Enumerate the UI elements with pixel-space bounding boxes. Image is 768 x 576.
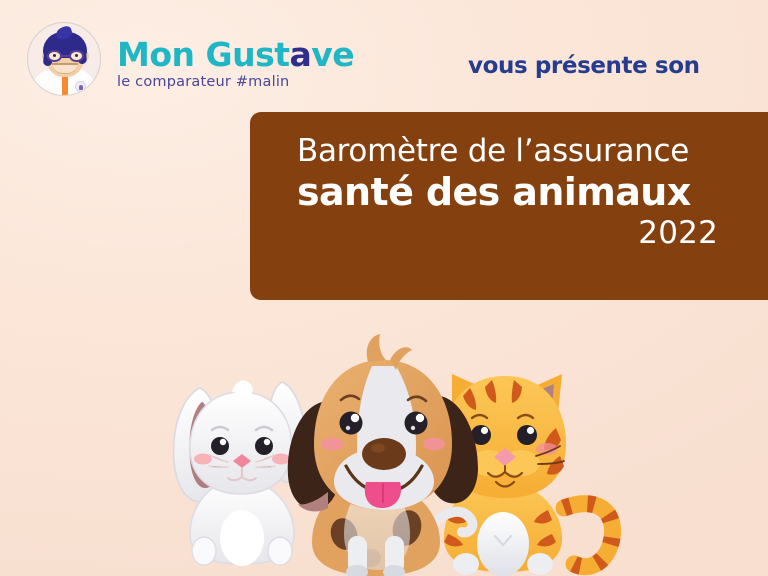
rabbit-figure	[155, 380, 306, 566]
brand-tagline: le comparateur #malin	[117, 74, 367, 90]
cat-paw-left	[453, 553, 479, 575]
three-pets-illustration	[0, 296, 768, 576]
cat-eye-right	[517, 425, 537, 445]
dog-eye-left	[340, 412, 363, 435]
avatar-glasses-bridge	[62, 55, 70, 57]
rabbit-eye-right	[255, 437, 273, 455]
rabbit-belly	[220, 510, 264, 566]
brand-name: Mon Gustave	[117, 38, 367, 71]
avatar-eye-right	[75, 54, 78, 57]
dog-tuft-left	[367, 334, 386, 362]
cat-paw-right	[527, 553, 553, 575]
dog-cheek-right	[423, 438, 445, 451]
avatar-glasses-icon	[46, 50, 86, 62]
avatar-eye-left	[53, 54, 56, 57]
dog-nose	[362, 438, 406, 470]
brand-name-accent: a	[290, 35, 312, 74]
title-line-2: santé des animaux	[297, 169, 718, 217]
title-line-1: Baromètre de l’assurance	[297, 134, 718, 169]
rabbit-eye-left	[211, 437, 229, 455]
brand-name-part1: Mon Gust	[117, 35, 290, 74]
brand-logo[interactable]: Mon Gustave le comparateur #malin	[117, 38, 367, 90]
rabbit-paw-left	[192, 537, 216, 565]
slide-root: Mon Gustave le comparateur #malin vous p…	[0, 0, 768, 576]
mascot-avatar-icon	[27, 22, 101, 96]
avatar-badge-icon	[75, 81, 86, 92]
dog-cheek-left	[321, 438, 343, 451]
brand-name-part2: ve	[311, 35, 354, 74]
rabbit-paw-right	[268, 537, 292, 565]
dog-eye-right	[405, 412, 428, 435]
header: Mon Gustave le comparateur #malin vous p…	[0, 0, 768, 112]
title-panel: Baromètre de l’assurance santé des anima…	[250, 112, 768, 300]
title-year: 2022	[297, 216, 718, 252]
presents-text: vous présente son	[468, 53, 700, 79]
